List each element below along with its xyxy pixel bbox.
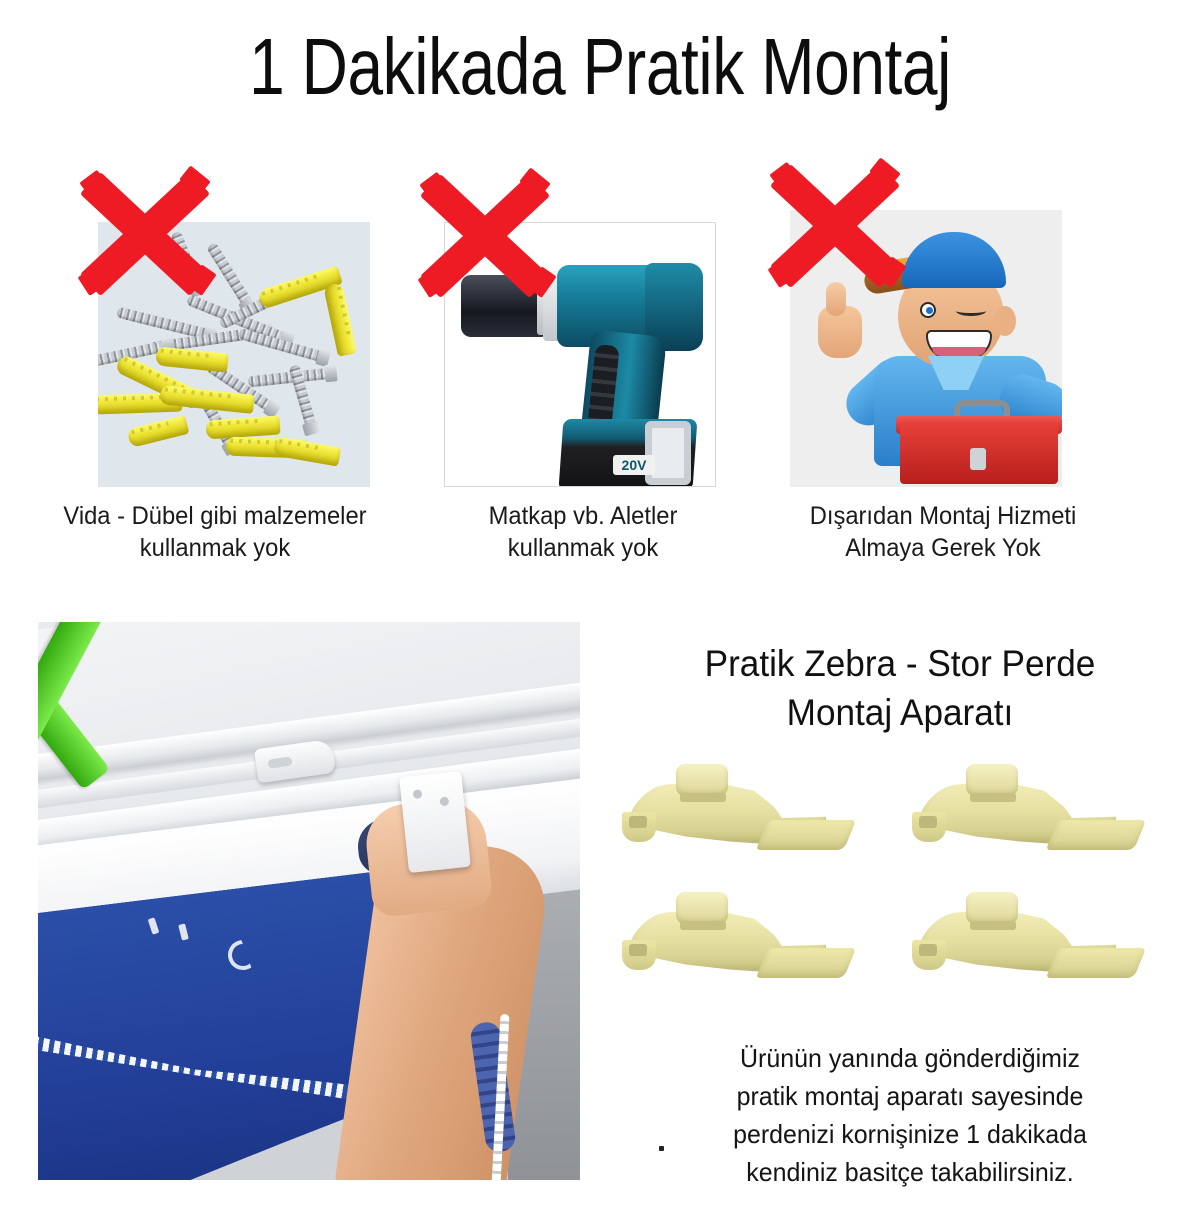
page-title: 1 Dakikada Pratik Montaj	[120, 26, 1080, 108]
clip-tail	[756, 820, 856, 850]
mounting-clips-grid	[620, 760, 1180, 1010]
clip-tail	[756, 948, 856, 978]
card-handyman: Dışarıdan Montaj Hizmeti Almaya Gerek Yo…	[778, 170, 1108, 580]
caption-line-1: Matkap vb. Aletler	[426, 500, 740, 532]
paragraph-line-1: Ürünün yanında gönderdiğimiz	[651, 1040, 1169, 1078]
card-caption: Dışarıdan Montaj Hizmeti Almaya Gerek Yo…	[786, 500, 1100, 564]
no-need-cards-row: Vida - Dübel gibi malzemeler kullanmak y…	[0, 170, 1200, 580]
clip-hook	[912, 940, 946, 970]
mounting-clip-photo	[910, 888, 1155, 996]
paragraph-line-3: perdenizi kornişinize 1 dakikada	[651, 1116, 1169, 1154]
card-drill: 20V Matkap vb. Aletler kullanmak yok	[418, 170, 748, 580]
clip-slot	[970, 921, 1016, 930]
product-heading-line-2: Montaj Aparatı	[615, 689, 1185, 738]
clip-slot	[680, 921, 726, 930]
clip-slot	[680, 793, 726, 802]
product-heading-line-1: Pratik Zebra - Stor Perde	[615, 640, 1185, 689]
clip-tab	[676, 764, 728, 796]
handyman-ear	[994, 306, 1016, 336]
white-mounting-bracket	[399, 771, 471, 873]
clip-tab	[966, 764, 1018, 796]
red-x-icon	[760, 156, 910, 296]
clip-slot	[970, 793, 1016, 802]
handyman-wink-eye	[956, 306, 986, 316]
clip-hook	[622, 812, 656, 842]
card-caption: Vida - Dübel gibi malzemeler kullanmak y…	[58, 500, 372, 564]
red-x-icon	[410, 166, 560, 306]
clip-hook	[622, 940, 656, 970]
card-screws: Vida - Dübel gibi malzemeler kullanmak y…	[50, 170, 380, 580]
paragraph-line-2: pratik montaj aparatı sayesinde	[651, 1078, 1169, 1116]
promo-infographic: 1 Dakikada Pratik Montaj	[0, 0, 1200, 1215]
product-heading: Pratik Zebra - Stor Perde Montaj Aparatı	[615, 640, 1185, 738]
stray-period-mark	[659, 1146, 664, 1151]
clip-tab	[676, 892, 728, 924]
handyman-eye	[920, 302, 936, 318]
red-x-icon	[70, 164, 220, 304]
clip-tail	[1046, 820, 1146, 850]
drill-belt-clip	[645, 421, 691, 485]
caption-line-2: kullanmak yok	[426, 532, 740, 564]
description-paragraph: Ürünün yanında gönderdiğimiz pratik mont…	[651, 1040, 1169, 1192]
battery-voltage-label: 20V	[613, 455, 655, 475]
cap-icon	[902, 232, 1006, 288]
clip-tab	[966, 892, 1018, 924]
clip-hook	[912, 812, 946, 842]
green-check-icon	[38, 622, 224, 786]
mounting-clip-photo	[620, 760, 865, 868]
toolbox-latch	[970, 448, 986, 470]
mounting-clip-photo	[910, 760, 1155, 868]
card-caption: Matkap vb. Aletler kullanmak yok	[426, 500, 740, 564]
roller-blind-installation-photo	[38, 622, 580, 1180]
caption-line-1: Dışarıdan Montaj Hizmeti	[786, 500, 1100, 532]
mounting-clip-photo	[620, 888, 865, 996]
clip-tail	[1046, 948, 1146, 978]
caption-line-2: kullanmak yok	[58, 532, 372, 564]
caption-line-2: Almaya Gerek Yok	[786, 532, 1100, 564]
paragraph-line-4: kendiniz basitçe takabilirsiniz.	[651, 1154, 1169, 1192]
caption-line-1: Vida - Dübel gibi malzemeler	[58, 500, 372, 532]
